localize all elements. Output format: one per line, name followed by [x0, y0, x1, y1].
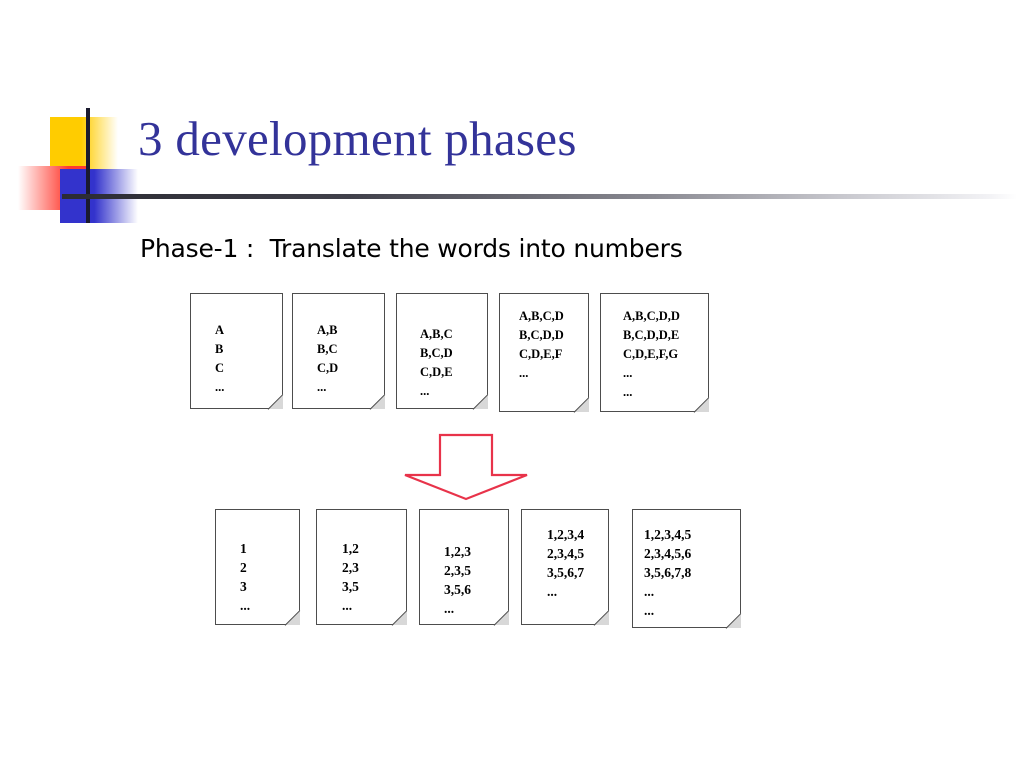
slide-canvas: 3 development phases Phase-1 : Translate… — [0, 0, 1024, 768]
document-card-line: 2,3 — [342, 558, 359, 577]
document-card-line: 2,3,4,5 — [547, 544, 584, 563]
document-card-line: C,D,E,F — [519, 345, 564, 364]
document-card-line: B,C — [317, 340, 338, 359]
document-card-line: B,C,D,D,E — [623, 326, 680, 345]
decoration-vertical-bar — [86, 108, 90, 223]
document-card-content: 123... — [240, 539, 250, 615]
document-card-line: ... — [623, 364, 680, 383]
title-underline-rule — [62, 194, 1017, 199]
document-card-line: C,D,E — [420, 363, 453, 382]
document-card-line: B — [215, 340, 224, 359]
document-card-line: C — [215, 359, 224, 378]
document-card-line: 2,3,4,5,6 — [644, 544, 691, 563]
document-card: A,B,C,D,DB,C,D,D,EC,D,E,F,G...... — [600, 293, 709, 412]
document-card: 123... — [215, 509, 300, 625]
document-card-line: 3,5,6,7,8 — [644, 563, 691, 582]
document-card-content: 1,2,3,4,52,3,4,5,63,5,6,7,8...... — [644, 525, 691, 620]
document-card-line: C,D,E,F,G — [623, 345, 680, 364]
document-card-line: A — [215, 321, 224, 340]
document-card-line: 3,5 — [342, 577, 359, 596]
document-card-line: 1,2,3,4,5 — [644, 525, 691, 544]
document-card-line: 1,2 — [342, 539, 359, 558]
document-card-content: A,B,C,DB,C,D,DC,D,E,F... — [519, 307, 564, 383]
document-card-line: ... — [547, 582, 584, 601]
document-card-line: ... — [240, 596, 250, 615]
document-card-line: ... — [444, 599, 471, 618]
document-card: A,BB,CC,D... — [292, 293, 385, 409]
page-title: 3 development phases — [138, 113, 577, 164]
document-card-line: ... — [623, 383, 680, 402]
document-card-line: A,B,C,D,D — [623, 307, 680, 326]
document-card-content: 1,22,33,5... — [342, 539, 359, 615]
document-card-line: 1,2,3,4 — [547, 525, 584, 544]
document-card-line: ... — [644, 582, 691, 601]
document-card-line: 2,3,5 — [444, 561, 471, 580]
document-card-content: A,B,CB,C,DC,D,E... — [420, 325, 453, 401]
document-card-line: ... — [644, 601, 691, 620]
document-card: 1,2,3,4,52,3,4,5,63,5,6,7,8...... — [632, 509, 741, 628]
document-card-line: B,C,D,D — [519, 326, 564, 345]
phase-subtitle: Phase-1 : Translate the words into numbe… — [140, 234, 683, 263]
down-arrow-icon — [403, 433, 529, 501]
document-card-content: A,BB,CC,D... — [317, 321, 338, 397]
document-card-line: 1,2,3 — [444, 542, 471, 561]
document-card-line: 1 — [240, 539, 250, 558]
document-card: 1,2,32,3,53,5,6... — [419, 509, 509, 625]
document-card-line: B,C,D — [420, 344, 453, 363]
document-card-line: C,D — [317, 359, 338, 378]
document-card-line: ... — [317, 378, 338, 397]
document-card-content: 1,2,3,42,3,4,53,5,6,7... — [547, 525, 584, 601]
document-card-line: 3 — [240, 577, 250, 596]
document-card: 1,2,3,42,3,4,53,5,6,7... — [521, 509, 609, 625]
document-card-line: ... — [519, 364, 564, 383]
document-card-line: ... — [420, 382, 453, 401]
document-card-line: ... — [215, 378, 224, 397]
document-card-line: 3,5,6 — [444, 580, 471, 599]
document-card-line: A,B,C — [420, 325, 453, 344]
document-card: 1,22,33,5... — [316, 509, 407, 625]
document-card: ABC... — [190, 293, 283, 409]
document-card-content: ABC... — [215, 321, 224, 397]
document-card: A,B,C,DB,C,D,DC,D,E,F... — [499, 293, 589, 412]
document-card-line: 2 — [240, 558, 250, 577]
document-card-line: 3,5,6,7 — [547, 563, 584, 582]
document-card: A,B,CB,C,DC,D,E... — [396, 293, 488, 409]
document-card-line: A,B,C,D — [519, 307, 564, 326]
document-card-line: A,B — [317, 321, 338, 340]
document-card-line: ... — [342, 596, 359, 615]
document-card-content: 1,2,32,3,53,5,6... — [444, 542, 471, 618]
document-card-content: A,B,C,D,DB,C,D,D,EC,D,E,F,G...... — [623, 307, 680, 402]
